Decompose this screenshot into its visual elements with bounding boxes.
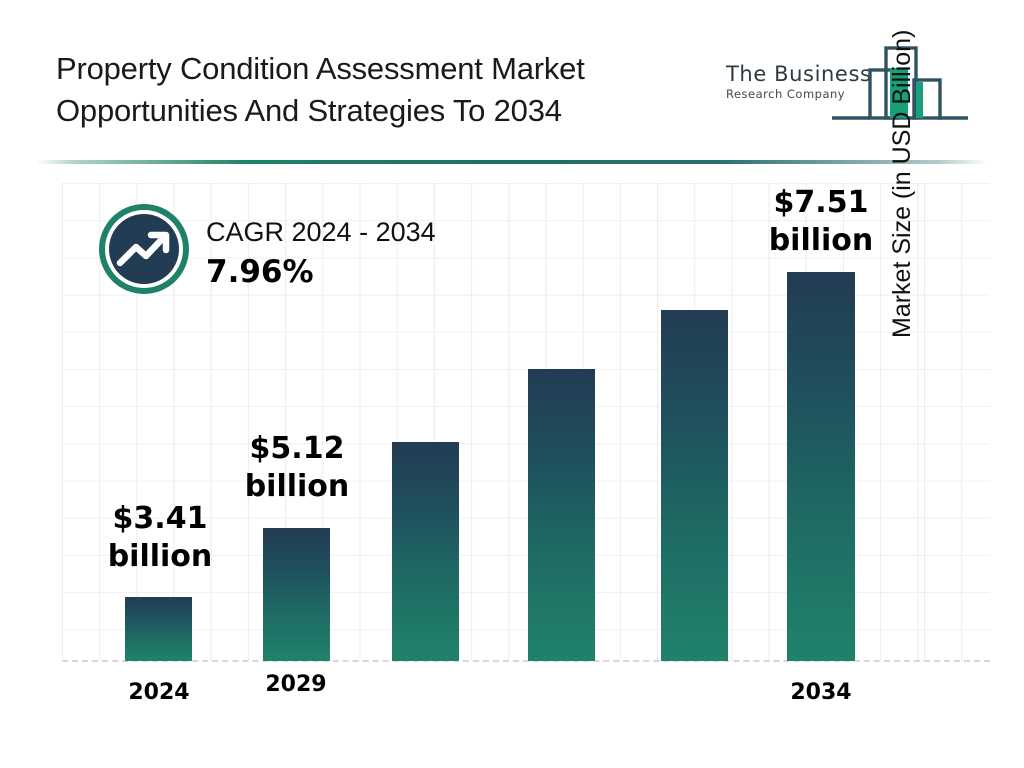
value-label-2029-unit: billion (222, 468, 372, 506)
value-label-2034: $7.51 billion (746, 184, 896, 260)
title-line-1: Property Condition Assessment Market (56, 48, 746, 90)
header: Property Condition Assessment Market Opp… (0, 0, 1024, 160)
chart-baseline (62, 660, 990, 662)
value-label-2024-unit: billion (95, 538, 225, 576)
xaxis-tick-2034: 2034 (774, 680, 868, 705)
cagr-value: 7.96% (206, 252, 436, 292)
value-label-2024: $3.41 billion (95, 500, 225, 576)
value-label-2034-unit: billion (746, 222, 896, 260)
value-label-2029: $5.12 billion (222, 430, 372, 506)
value-label-2034-amount: $7.51 (746, 184, 896, 222)
chart-grid-right (924, 183, 990, 661)
chart-page: Property Condition Assessment Market Opp… (0, 0, 1024, 768)
cagr-label: CAGR 2024 - 2034 (206, 215, 436, 249)
xaxis-tick-2024: 2024 (112, 680, 206, 705)
company-logo: The Business Research Company (726, 40, 976, 140)
header-divider (36, 160, 988, 164)
page-title: Property Condition Assessment Market Opp… (56, 48, 746, 132)
xaxis-tick-2029: 2029 (249, 672, 343, 697)
title-line-2: Opportunities And Strategies To 2034 (56, 90, 746, 132)
yaxis-title: Market Size (in USD Billion) (888, 0, 922, 338)
cagr-badge-icon (96, 201, 192, 297)
cagr-text-block: CAGR 2024 - 2034 7.96% (206, 215, 436, 292)
value-label-2024-amount: $3.41 (95, 500, 225, 538)
value-label-2029-amount: $5.12 (222, 430, 372, 468)
